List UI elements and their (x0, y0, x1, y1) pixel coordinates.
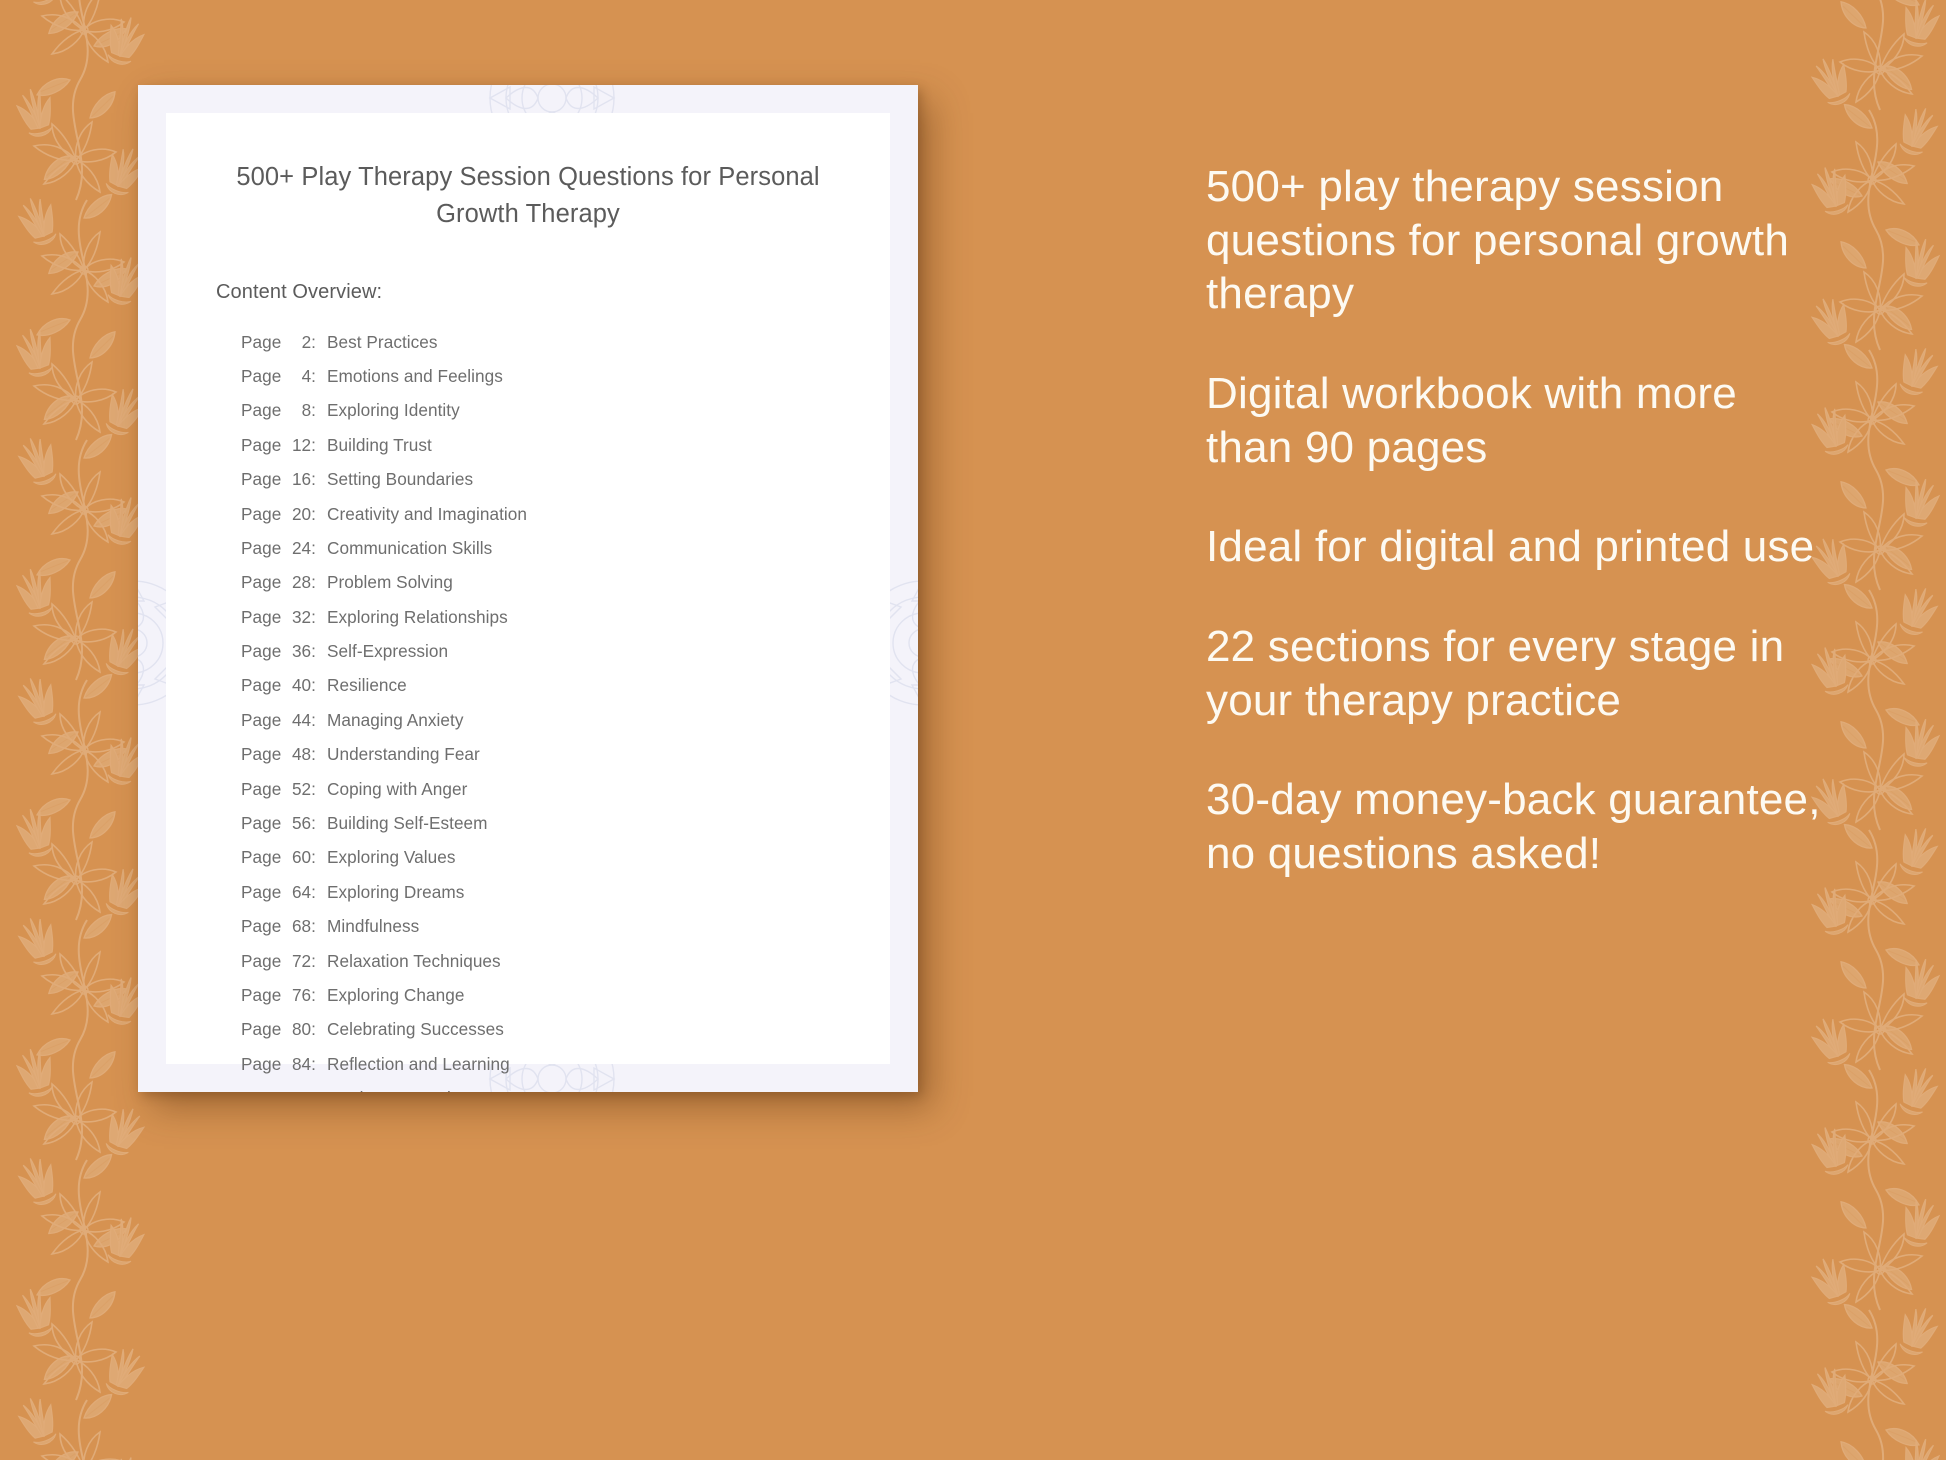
toc-page-number: 56 (286, 815, 311, 832)
toc-row: Page 80:Celebrating Successes (241, 1013, 890, 1047)
toc-page-label: Page (241, 506, 286, 523)
toc-colon: : (311, 609, 316, 626)
toc-section-title: Understanding Fear (327, 746, 480, 763)
toc-page-label: Page (241, 437, 286, 454)
toc-section-title: Exploring Values (327, 849, 456, 866)
promo-block: 500+ play therapy session questions for … (1206, 160, 1826, 321)
toc-page-number: 44 (286, 712, 311, 729)
promo-block: Ideal for digital and printed use (1206, 520, 1826, 574)
toc-row: Page 28:Problem Solving (241, 566, 890, 600)
toc-page-label: Page (241, 402, 286, 419)
toc-colon: : (311, 884, 316, 901)
toc-page-number: 84 (286, 1056, 311, 1073)
toc-row: Page 68:Mindfulness (241, 910, 890, 944)
table-of-contents: Page 2:Best PracticesPage 4:Emotions and… (241, 325, 890, 1092)
toc-page-label: Page (241, 884, 286, 901)
toc-page-number: 88 (286, 1090, 311, 1092)
toc-section-title: Problem Solving (327, 574, 453, 591)
toc-colon: : (311, 368, 316, 385)
toc-page-label: Page (241, 918, 286, 935)
toc-colon: : (311, 781, 316, 798)
toc-page-label: Page (241, 540, 286, 557)
toc-row: Page 36:Self-Expression (241, 634, 890, 668)
toc-page-number: 28 (286, 574, 311, 591)
toc-row: Page 52:Coping with Anger (241, 772, 890, 806)
toc-page-number: 12 (286, 437, 311, 454)
toc-section-title: Exploring Relationships (327, 609, 508, 626)
toc-page-number: 72 (286, 953, 311, 970)
toc-page-label: Page (241, 712, 286, 729)
promo-block: Digital workbook with more than 90 pages (1206, 367, 1826, 474)
toc-page-number: 60 (286, 849, 311, 866)
toc-row: Page 64:Exploring Dreams (241, 875, 890, 909)
toc-section-title: Exploring Change (327, 987, 464, 1004)
toc-section-title: Mindfulness (327, 918, 419, 935)
toc-row: Page 56:Building Self-Esteem (241, 806, 890, 840)
toc-section-title: Moving Forward (327, 1090, 451, 1092)
toc-colon: : (311, 849, 316, 866)
toc-page-label: Page (241, 987, 286, 1004)
toc-page-number: 52 (286, 781, 311, 798)
toc-row: Page 72:Relaxation Techniques (241, 944, 890, 978)
toc-page-label: Page (241, 643, 286, 660)
toc-section-title: Best Practices (327, 334, 438, 351)
toc-colon: : (311, 1021, 316, 1038)
content-overview-label: Content Overview: (216, 281, 890, 304)
toc-colon: : (311, 471, 316, 488)
toc-row: Page 2:Best Practices (241, 325, 890, 359)
toc-colon: : (311, 712, 316, 729)
document-preview-card: 500+ Play Therapy Session Questions for … (138, 85, 918, 1092)
toc-colon: : (311, 402, 316, 419)
toc-section-title: Exploring Dreams (327, 884, 464, 901)
toc-colon: : (311, 677, 316, 694)
toc-colon: : (311, 1056, 316, 1073)
toc-colon: : (311, 1090, 316, 1092)
document-page: 500+ Play Therapy Session Questions for … (166, 113, 890, 1064)
toc-section-title: Communication Skills (327, 540, 492, 557)
toc-colon: : (311, 506, 316, 523)
toc-row: Page 12:Building Trust (241, 428, 890, 462)
toc-colon: : (311, 334, 316, 351)
toc-page-number: 80 (286, 1021, 311, 1038)
toc-page-number: 20 (286, 506, 311, 523)
toc-section-title: Celebrating Successes (327, 1021, 504, 1038)
toc-section-title: Building Self-Esteem (327, 815, 488, 832)
toc-page-label: Page (241, 677, 286, 694)
toc-row: Page 76:Exploring Change (241, 978, 890, 1012)
toc-page-label: Page (241, 746, 286, 763)
toc-page-number: 40 (286, 677, 311, 694)
toc-section-title: Reflection and Learning (327, 1056, 510, 1073)
toc-page-number: 2 (286, 334, 311, 351)
toc-page-label: Page (241, 368, 286, 385)
toc-row: Page 88:Moving Forward (241, 1082, 890, 1092)
toc-page-number: 8 (286, 402, 311, 419)
toc-page-number: 4 (286, 368, 311, 385)
toc-page-number: 36 (286, 643, 311, 660)
toc-colon: : (311, 746, 316, 763)
toc-page-number: 32 (286, 609, 311, 626)
toc-section-title: Self-Expression (327, 643, 448, 660)
toc-section-title: Emotions and Feelings (327, 368, 503, 385)
toc-section-title: Creativity and Imagination (327, 506, 527, 523)
toc-section-title: Setting Boundaries (327, 471, 473, 488)
toc-page-number: 16 (286, 471, 311, 488)
toc-section-title: Relaxation Techniques (327, 953, 501, 970)
toc-page-label: Page (241, 334, 286, 351)
toc-colon: : (311, 987, 316, 1004)
promo-column: 500+ play therapy session questions for … (1206, 160, 1826, 881)
toc-row: Page 4:Emotions and Feelings (241, 359, 890, 393)
toc-page-number: 24 (286, 540, 311, 557)
page-title: 500+ Play Therapy Session Questions for … (228, 159, 828, 234)
toc-page-label: Page (241, 1021, 286, 1038)
toc-page-number: 64 (286, 884, 311, 901)
toc-section-title: Resilience (327, 677, 407, 694)
toc-colon: : (311, 437, 316, 454)
toc-row: Page 16:Setting Boundaries (241, 463, 890, 497)
toc-page-label: Page (241, 574, 286, 591)
toc-row: Page 60:Exploring Values (241, 841, 890, 875)
toc-page-label: Page (241, 609, 286, 626)
toc-page-label: Page (241, 471, 286, 488)
toc-row: Page 44:Managing Anxiety (241, 703, 890, 737)
toc-row: Page 84:Reflection and Learning (241, 1047, 890, 1081)
toc-page-number: 68 (286, 918, 311, 935)
promo-block: 22 sections for every stage in your ther… (1206, 620, 1826, 727)
toc-colon: : (311, 540, 316, 557)
toc-page-label: Page (241, 1056, 286, 1073)
toc-colon: : (311, 918, 316, 935)
toc-colon: : (311, 574, 316, 591)
toc-page-label: Page (241, 781, 286, 798)
toc-colon: : (311, 815, 316, 832)
toc-row: Page 24:Communication Skills (241, 531, 890, 565)
toc-row: Page 20:Creativity and Imagination (241, 497, 890, 531)
toc-row: Page 8:Exploring Identity (241, 394, 890, 428)
toc-page-label: Page (241, 1090, 286, 1092)
toc-page-number: 76 (286, 987, 311, 1004)
toc-page-label: Page (241, 815, 286, 832)
toc-row: Page 48:Understanding Fear (241, 738, 890, 772)
toc-section-title: Building Trust (327, 437, 432, 454)
toc-row: Page 32:Exploring Relationships (241, 600, 890, 634)
toc-colon: : (311, 953, 316, 970)
toc-section-title: Managing Anxiety (327, 712, 463, 729)
toc-page-label: Page (241, 849, 286, 866)
toc-page-label: Page (241, 953, 286, 970)
promo-block: 30-day money-back guarantee, no question… (1206, 773, 1826, 880)
toc-section-title: Exploring Identity (327, 402, 460, 419)
toc-page-number: 48 (286, 746, 311, 763)
toc-section-title: Coping with Anger (327, 781, 467, 798)
toc-colon: : (311, 643, 316, 660)
toc-row: Page 40:Resilience (241, 669, 890, 703)
